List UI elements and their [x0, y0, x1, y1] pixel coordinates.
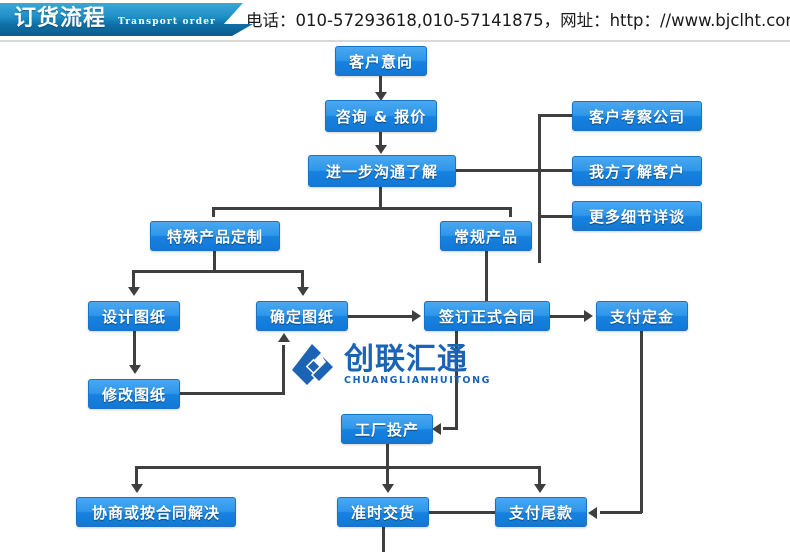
connector-xiugai-feedback-v: [282, 345, 285, 395]
contact-info: 电话：010-57293618,010-57141875，网址：http：//w…: [246, 7, 790, 31]
connector-sheji-xiugai: [133, 331, 136, 367]
node-standard-product[interactable]: 常规产品: [440, 221, 532, 251]
connector-xiugai-feedback-h: [180, 392, 285, 395]
arrowhead-up-quedingtuzhi: [278, 333, 290, 342]
arrowhead-down-goutong: [375, 145, 387, 154]
company-watermark: 创联汇通 CHUANGLIANHUITONG: [288, 338, 488, 394]
node-custom-product[interactable]: 特殊产品定制: [150, 221, 280, 251]
connector-split-right-drawings: [301, 270, 304, 288]
arrowhead-down-shejitzhi: [128, 287, 140, 296]
connector-right-to-liaojie: [538, 169, 574, 172]
connector-quedingtuzhi-hetong: [348, 315, 412, 318]
connector-right-to-kaocha: [538, 114, 574, 117]
node-pay-balance[interactable]: 支付尾款: [495, 497, 587, 527]
header-divider: [0, 40, 790, 42]
flowchart-page: 订货流程 Transport order 电话：010-57293618,010…: [0, 0, 790, 552]
node-further-communication[interactable]: 进一步沟通了解: [308, 155, 456, 187]
connector-hetong-gongchang-v: [455, 331, 458, 430]
node-design-drawing[interactable]: 设计图纸: [88, 301, 180, 331]
arrowhead-down-xieshang: [131, 484, 143, 493]
connector-split-bar-products: [212, 207, 512, 210]
connector-hetong-gongchang-h: [443, 427, 458, 430]
node-revise-drawing[interactable]: 修改图纸: [88, 379, 180, 409]
connector-right-trunk: [538, 115, 541, 263]
connector-zhunshi-weikuan: [429, 511, 495, 514]
arrowhead-left-weikuan: [588, 507, 597, 519]
node-negotiate-or-contract[interactable]: 协商或按合同解决: [76, 497, 236, 527]
connector-split-left-bottom: [135, 466, 138, 486]
arrowhead-left-gongchang: [432, 423, 441, 435]
page-header: 订货流程 Transport order 电话：010-57293618,010…: [0, 0, 790, 40]
node-more-details-discussion[interactable]: 更多细节详谈: [572, 201, 702, 231]
connector-split-right-products: [509, 207, 512, 217]
connector-dingjin-weikuan-v: [640, 331, 643, 513]
connector-right-to-xiangtan: [538, 215, 574, 218]
arrowhead-down-weikuan: [534, 484, 546, 493]
connector-zhunshi-offpage: [382, 527, 385, 552]
connector-dingjin-weikuan-h: [600, 511, 642, 514]
node-sign-formal-contract[interactable]: 签订正式合同: [424, 301, 550, 331]
node-on-time-delivery[interactable]: 准时交货: [337, 497, 429, 527]
arrowhead-down-zhunshi: [382, 484, 394, 493]
connector-split-left-drawings: [132, 270, 135, 288]
page-subtitle: Transport order: [118, 17, 216, 27]
company-logo-icon: [288, 341, 338, 391]
connector-split-left-products: [212, 207, 215, 217]
node-factory-production[interactable]: 工厂投产: [341, 414, 433, 444]
arrowhead-down-quedingtuzhi: [297, 287, 309, 296]
company-name-cn: 创联汇通: [344, 345, 491, 375]
company-name-en: CHUANGLIANHUITONG: [344, 375, 491, 387]
page-title: 订货流程: [14, 6, 106, 32]
node-confirm-drawing[interactable]: 确定图纸: [256, 301, 348, 331]
node-customer-visits-company[interactable]: 客户考察公司: [572, 101, 702, 131]
node-consult-quote[interactable]: 咨询 & 报价: [325, 100, 437, 132]
arrowhead-right-dingjin: [584, 310, 593, 322]
connector-hetong-dingjin: [550, 315, 586, 318]
connector-changgui-hetong: [485, 251, 488, 303]
connector-split-bar-bottom: [135, 466, 541, 469]
connector-split-bar-drawings: [132, 270, 304, 273]
connector-split-right-bottom: [538, 466, 541, 486]
company-watermark-text: 创联汇通 CHUANGLIANHUITONG: [344, 345, 491, 387]
arrowhead-right-hetong: [412, 310, 421, 322]
arrowhead-down-xiugaitzhi: [129, 365, 141, 374]
connector-goutong-right: [456, 169, 540, 172]
node-customer-intent[interactable]: 客户意向: [335, 46, 427, 76]
node-we-understand-customer[interactable]: 我方了解客户: [572, 156, 702, 186]
node-pay-deposit[interactable]: 支付定金: [596, 301, 688, 331]
